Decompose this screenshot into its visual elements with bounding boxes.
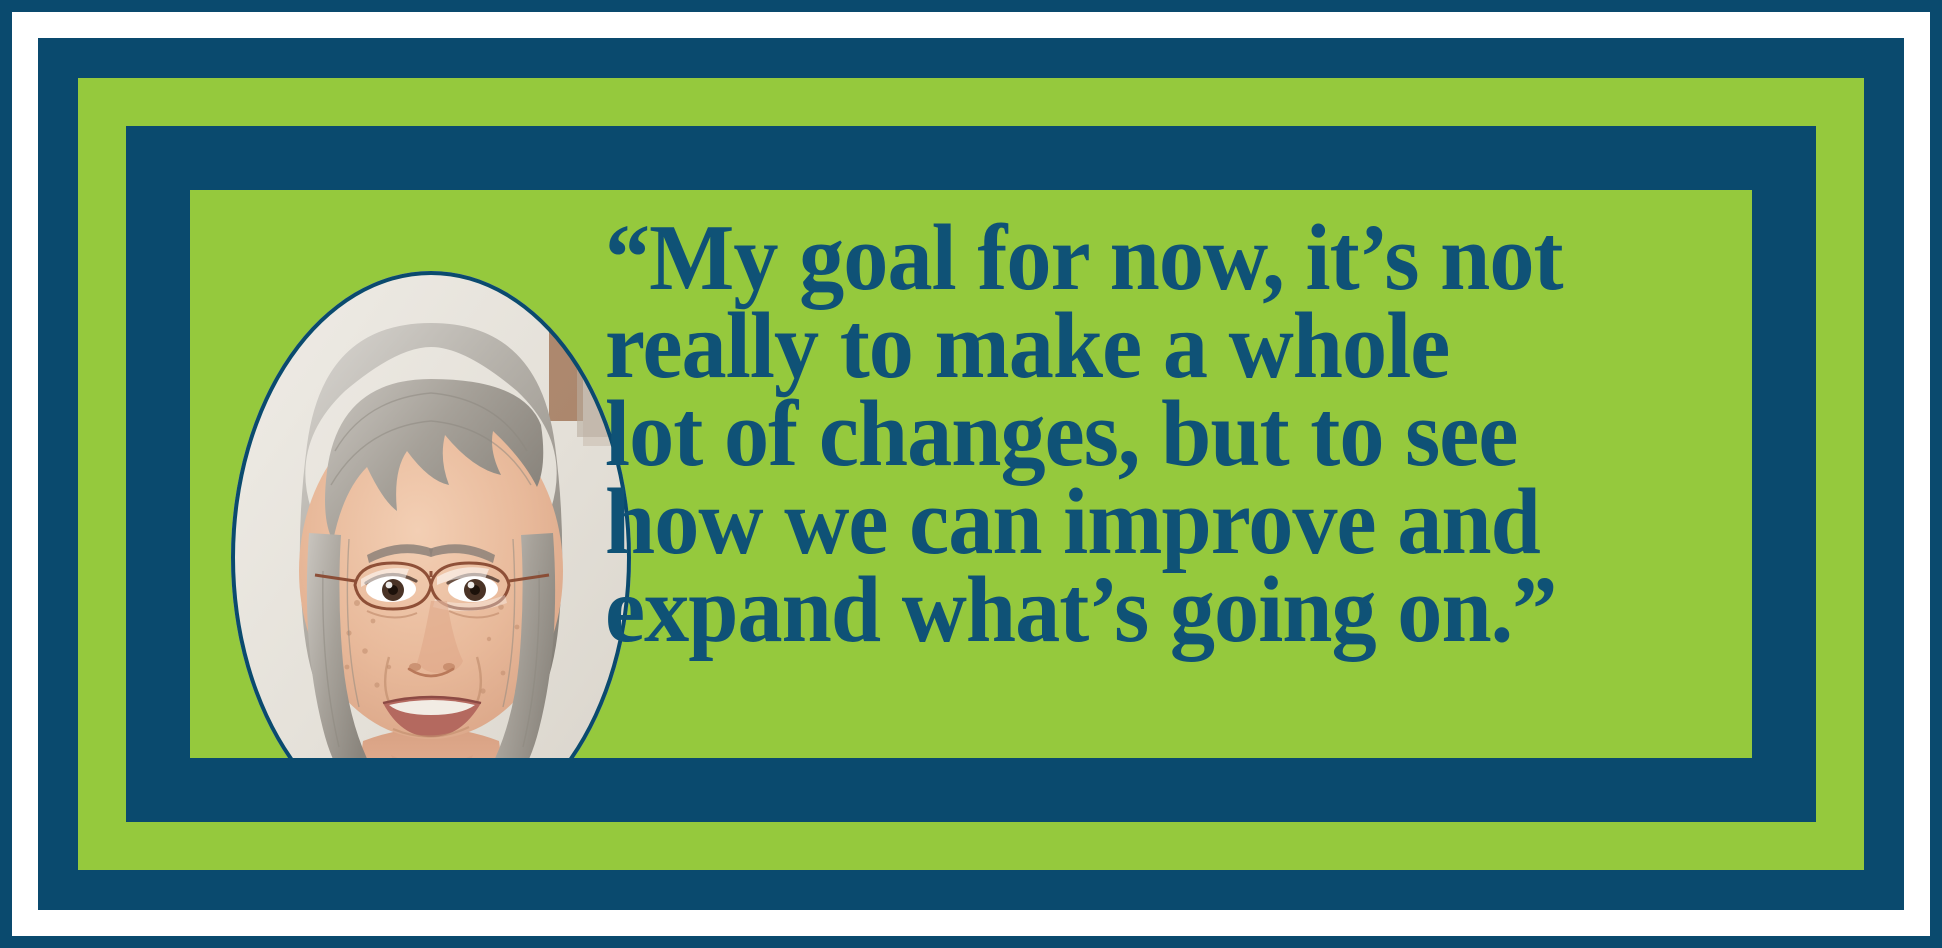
portrait-oval-mask <box>231 271 631 758</box>
card-body: “My goal for now, it’s not really to mak… <box>190 190 1752 758</box>
frame-border-outer: “My goal for now, it’s not really to mak… <box>0 0 1942 948</box>
portrait-illustration <box>231 271 631 758</box>
quote-line-2: really to make a whole <box>605 302 1752 390</box>
quote-line-3: lot of changes, but to see <box>605 390 1752 478</box>
portrait <box>231 271 631 758</box>
frame-border-innermost-blue: “My goal for now, it’s not really to mak… <box>126 126 1816 822</box>
quote-line-4: how we can improve and <box>605 478 1752 566</box>
quote-text: “My goal for now, it’s not really to mak… <box>605 214 1752 654</box>
quote-card: “My goal for now, it’s not really to mak… <box>0 0 1942 948</box>
frame-border-inner-blue: “My goal for now, it’s not really to mak… <box>38 38 1904 910</box>
frame-border-white-gap: “My goal for now, it’s not really to mak… <box>12 12 1930 936</box>
quote-line-1: “My goal for now, it’s not <box>605 214 1752 302</box>
quote-line-5: expand what’s going on.” <box>605 566 1752 654</box>
frame-border-green-gap: “My goal for now, it’s not really to mak… <box>78 78 1864 870</box>
